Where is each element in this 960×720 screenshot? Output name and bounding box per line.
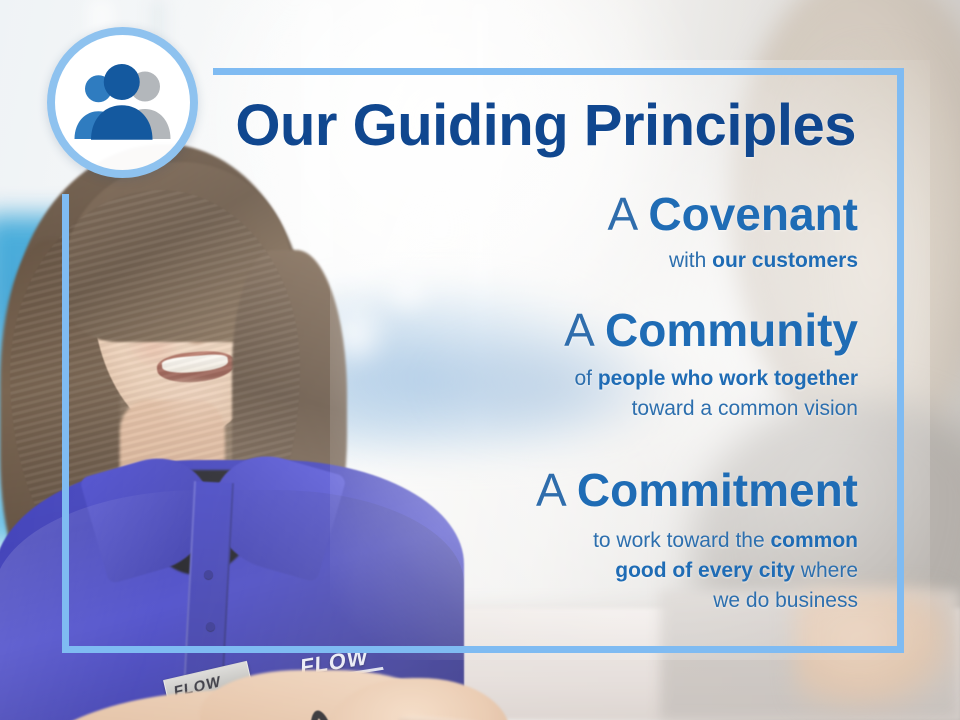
principle-article: A	[536, 464, 564, 516]
principle-subtext: to work toward the commongood of every c…	[0, 526, 858, 616]
principle-keyword: Community	[605, 304, 858, 356]
text-content: Our Guiding Principles A Covenant with o…	[0, 0, 960, 720]
principle-heading: A Commitment	[0, 462, 858, 518]
principle-subtext: of people who work togethertoward a comm…	[0, 364, 858, 424]
principle-article: A	[607, 188, 635, 240]
principle-subtext: with our customers	[0, 246, 858, 276]
principle-article: A	[564, 304, 592, 356]
principle-community: A Community of people who work togethert…	[0, 302, 928, 424]
principle-keyword: Covenant	[648, 188, 858, 240]
principle-heading: A Covenant	[0, 186, 858, 242]
principle-commitment: A Commitment to work toward the commongo…	[0, 462, 928, 616]
principle-keyword: Commitment	[577, 464, 858, 516]
principle-heading: A Community	[0, 302, 858, 358]
principle-covenant: A Covenant with our customers	[0, 186, 928, 276]
page-title: Our Guiding Principles	[0, 92, 928, 159]
